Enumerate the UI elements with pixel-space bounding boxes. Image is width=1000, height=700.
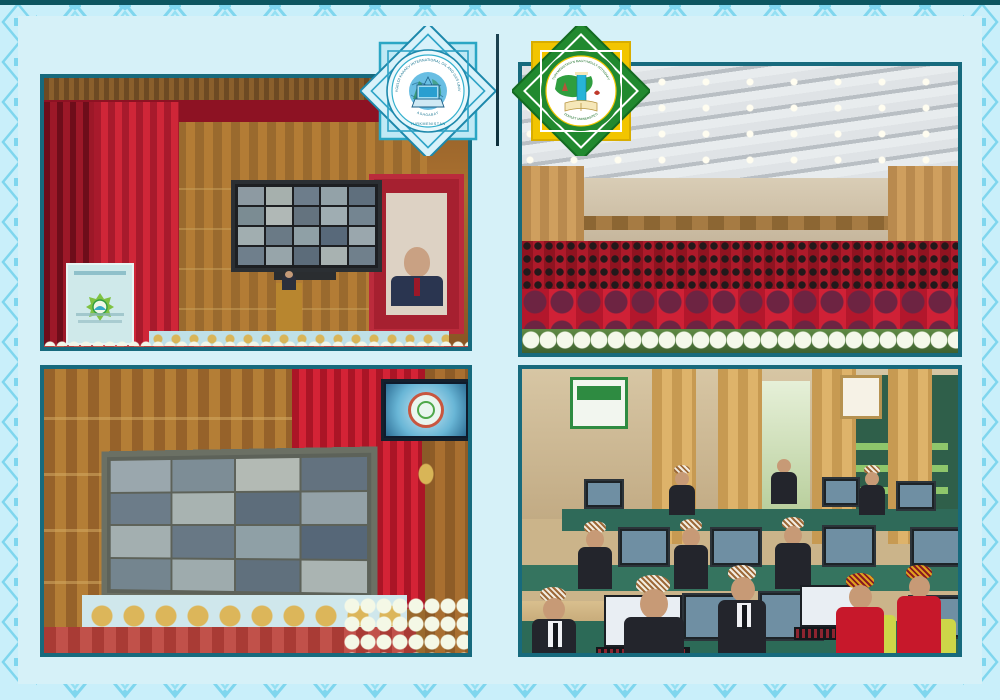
framed-portrait-of-president <box>369 174 464 334</box>
desktop-monitor <box>896 481 936 511</box>
desktop-monitor <box>710 527 762 567</box>
video-conference-grid <box>111 457 367 593</box>
top-rule <box>0 0 1000 5</box>
desktop-monitor <box>822 477 860 507</box>
emblem-turkmenistan-state-university: TURKMENISTANYN MAGTYMGULY ADYNDAKY DOWLE… <box>512 26 650 156</box>
forum-logo-icon <box>408 392 444 428</box>
wall-poster-framed <box>840 375 882 419</box>
svg-text:TURKMENISTAN: TURKMENISTAN <box>410 122 445 126</box>
emblem-oil-and-gas-university: YAGSHYGELDI KAKAEV INTERNATIONAL OIL AND… <box>360 26 496 156</box>
flower-arrangement <box>344 597 472 657</box>
wall-poster-green <box>570 377 628 429</box>
emblem-header: YAGSHYGELDI KAKAEV INTERNATIONAL OIL AND… <box>360 26 650 156</box>
podium <box>276 283 302 331</box>
audience-front-row <box>522 289 958 331</box>
conference-banner <box>66 263 134 345</box>
video-conference-grid <box>238 187 375 265</box>
balcony-railing <box>580 216 892 230</box>
forum-star-logo-icon <box>85 292 115 322</box>
video-conference-wall-screen <box>231 180 382 272</box>
emblem-divider <box>496 34 499 146</box>
photo-computer-lab-with-students[interactable] <box>518 365 962 657</box>
flower-border <box>522 329 958 353</box>
desktop-monitor <box>822 525 876 567</box>
desktop-monitor <box>618 527 670 567</box>
photo-projection-screen-video-conference[interactable] <box>40 365 472 657</box>
projection-screen <box>101 446 377 603</box>
desktop-monitor <box>584 479 624 509</box>
wall-mounted-monitor <box>381 379 471 441</box>
wall-ornament <box>415 459 437 489</box>
desktop-monitor <box>910 527 962 567</box>
